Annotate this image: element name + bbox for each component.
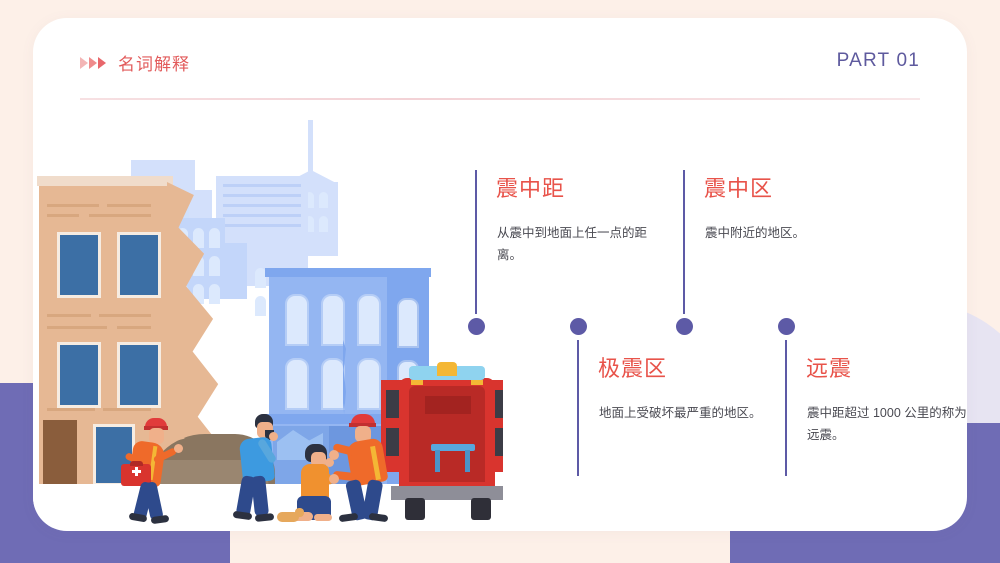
slide-stage: 名词解释 PART 01 — [0, 0, 1000, 563]
timeline-dot[interactable] — [468, 318, 485, 335]
slide-card: 名词解释 PART 01 — [33, 18, 967, 531]
definition-title: 震中区 — [704, 171, 773, 203]
definition-body: 地面上受破坏最严重的地区。 — [599, 403, 769, 425]
definition-title: 远震 — [806, 351, 852, 383]
definition-body: 震中距超过 1000 公里的称为远震。 — [807, 403, 967, 447]
connector-line — [475, 170, 477, 314]
definition-body: 震中附近的地区。 — [705, 223, 875, 245]
definition-title: 极震区 — [598, 351, 667, 383]
timeline-dot[interactable] — [778, 318, 795, 335]
connector-line — [577, 340, 579, 476]
connector-line — [785, 340, 787, 476]
definition-body: 从震中到地面上任一点的距离。 — [497, 223, 667, 267]
connector-line — [683, 170, 685, 314]
timeline-dot[interactable] — [676, 318, 693, 335]
definition-title: 震中距 — [496, 171, 565, 203]
definitions-timeline: 震中距 从震中到地面上任一点的距离。 极震区 地面上受破坏最严重的地区。 震中区… — [33, 18, 967, 531]
timeline-dot[interactable] — [570, 318, 587, 335]
